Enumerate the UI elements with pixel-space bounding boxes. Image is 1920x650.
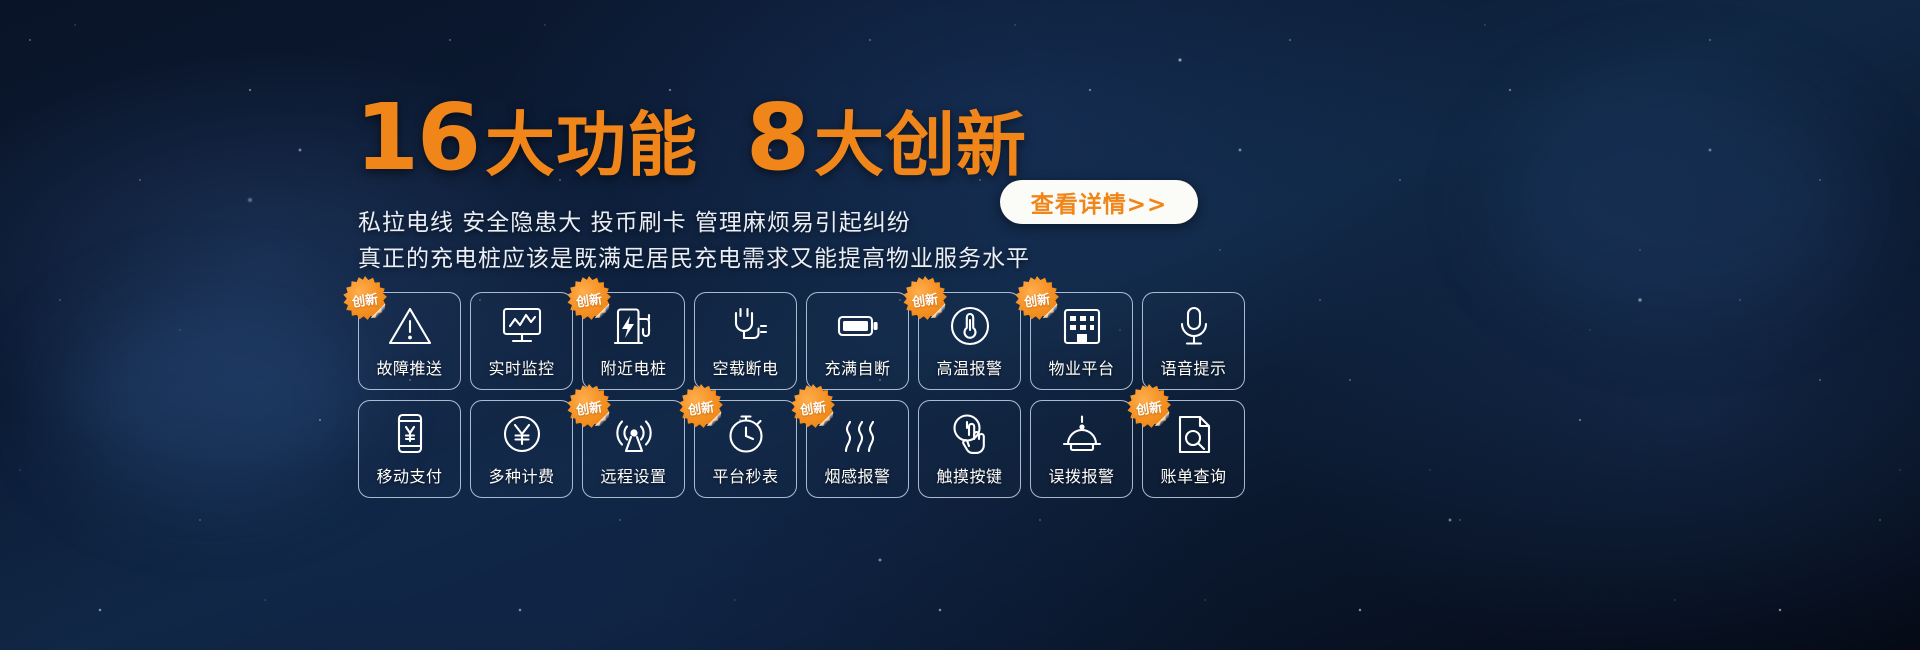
subtitle-line-2: 真正的充电桩应该是既满足居民充电需求又能提高物业服务水平: [358, 241, 1030, 277]
feature-card-mobile-payment[interactable]: 移动支付: [358, 400, 461, 498]
innovation-badge-label: 创新: [575, 288, 603, 310]
bill-search-icon: [1171, 405, 1217, 463]
subtitle-line-1: 私拉电线 安全隐患大 投币刷卡 管理麻烦易引起纠纷: [358, 205, 1030, 241]
feature-card-antenna-signal[interactable]: 创新远程设置: [582, 400, 685, 498]
feature-card-label: 账单查询: [1160, 463, 1226, 487]
charging-pile-icon: [611, 297, 657, 355]
feature-card-label: 故障推送: [376, 355, 442, 379]
feature-row-2: 移动支付多种计费创新远程设置创新平台秒表创新烟感报警触摸按键误拨报警创新账单查询: [358, 400, 1245, 498]
feature-card-stopwatch[interactable]: 创新平台秒表: [694, 400, 797, 498]
badge-fold-highlight: [1155, 412, 1169, 426]
view-details-button[interactable]: 查看详情>>: [1000, 180, 1198, 224]
innovation-badge-label: 创新: [1023, 288, 1051, 310]
feature-card-smoke-sensor[interactable]: 创新烟感报警: [806, 400, 909, 498]
badge-fold-highlight: [819, 412, 833, 426]
feature-card-label: 平台秒表: [712, 463, 778, 487]
headline-number-8: 8: [746, 92, 808, 184]
innovation-badge-label: 创新: [351, 288, 379, 310]
innovation-badge: 创新: [342, 276, 388, 322]
feature-card-microphone[interactable]: 语音提示: [1142, 292, 1245, 390]
microphone-icon: [1171, 297, 1217, 355]
building-icon: [1059, 297, 1105, 355]
badge-fold-highlight: [931, 304, 945, 318]
smoke-sensor-icon: [835, 405, 881, 463]
feature-card-touch-hand[interactable]: 触摸按键: [918, 400, 1021, 498]
feature-card-charging-pile[interactable]: 创新附近电桩: [582, 292, 685, 390]
feature-card-label: 移动支付: [376, 463, 442, 487]
nebula-glow-left: [60, 300, 360, 500]
touch-hand-icon: [947, 405, 993, 463]
feature-card-label: 多种计费: [488, 463, 554, 487]
feature-card-label: 远程设置: [600, 463, 666, 487]
subtitle-block: 私拉电线 安全隐患大 投币刷卡 管理麻烦易引起纠纷 真正的充电桩应该是既满足居民…: [358, 205, 1030, 277]
badge-fold-highlight: [371, 304, 385, 318]
innovation-badge-label: 创新: [911, 288, 939, 310]
headline: 16 大功能 8 大创新: [355, 92, 1027, 184]
feature-card-alarm-bell[interactable]: 误拨报警: [1030, 400, 1133, 498]
badge-fold-highlight: [595, 412, 609, 426]
feature-card-label: 附近电桩: [600, 355, 666, 379]
banner-stage: 16 大功能 8 大创新 私拉电线 安全隐患大 投币刷卡 管理麻烦易引起纠纷 真…: [0, 0, 1920, 650]
badge-fold-highlight: [707, 412, 721, 426]
antenna-signal-icon: [611, 405, 657, 463]
headline-text-functions: 大功能: [485, 110, 698, 180]
feature-card-bill-search[interactable]: 创新账单查询: [1142, 400, 1245, 498]
feature-card-label: 语音提示: [1160, 355, 1226, 379]
monitor-chart-icon: [499, 297, 545, 355]
feature-card-battery-full[interactable]: 充满自断: [806, 292, 909, 390]
feature-card-yuan-coin[interactable]: 多种计费: [470, 400, 573, 498]
feature-card-label: 空载断电: [712, 355, 778, 379]
feature-card-label: 物业平台: [1048, 355, 1114, 379]
headline-number-16: 16: [355, 92, 479, 184]
feature-grid: 创新故障推送实时监控创新附近电桩空载断电充满自断创新高温报警创新物业平台语音提示…: [358, 292, 1245, 508]
feature-card-label: 触摸按键: [936, 463, 1002, 487]
innovation-badge-label: 创新: [575, 396, 603, 418]
feature-card-monitor-chart[interactable]: 实时监控: [470, 292, 573, 390]
nebula-glow-right: [1500, 80, 1860, 320]
starburst-shape: [342, 276, 388, 322]
yuan-coin-icon: [499, 405, 545, 463]
headline-text-innovations: 大创新: [814, 110, 1027, 180]
alarm-bell-icon: [1059, 405, 1105, 463]
feature-card-building[interactable]: 创新物业平台: [1030, 292, 1133, 390]
badge-fold-highlight: [1043, 304, 1057, 318]
feature-card-warning-triangle[interactable]: 创新故障推送: [358, 292, 461, 390]
stopwatch-icon: [723, 405, 769, 463]
battery-full-icon: [835, 297, 881, 355]
feature-card-label: 烟感报警: [824, 463, 890, 487]
badge-fold-highlight: [595, 304, 609, 318]
feature-card-thermometer[interactable]: 创新高温报警: [918, 292, 1021, 390]
warning-triangle-icon: [387, 297, 433, 355]
innovation-badge-label: 创新: [799, 396, 827, 418]
feature-card-label: 实时监控: [488, 355, 554, 379]
innovation-badge-label: 创新: [687, 396, 715, 418]
feature-row-1: 创新故障推送实时监控创新附近电桩空载断电充满自断创新高温报警创新物业平台语音提示: [358, 292, 1245, 390]
mobile-payment-icon: [387, 405, 433, 463]
innovation-badge-label: 创新: [1135, 396, 1163, 418]
feature-card-label: 误拨报警: [1048, 463, 1114, 487]
thermometer-icon: [947, 297, 993, 355]
plug-power-off-icon: [723, 297, 769, 355]
feature-card-label: 高温报警: [936, 355, 1002, 379]
feature-card-label: 充满自断: [824, 355, 890, 379]
feature-card-plug-power-off[interactable]: 空载断电: [694, 292, 797, 390]
